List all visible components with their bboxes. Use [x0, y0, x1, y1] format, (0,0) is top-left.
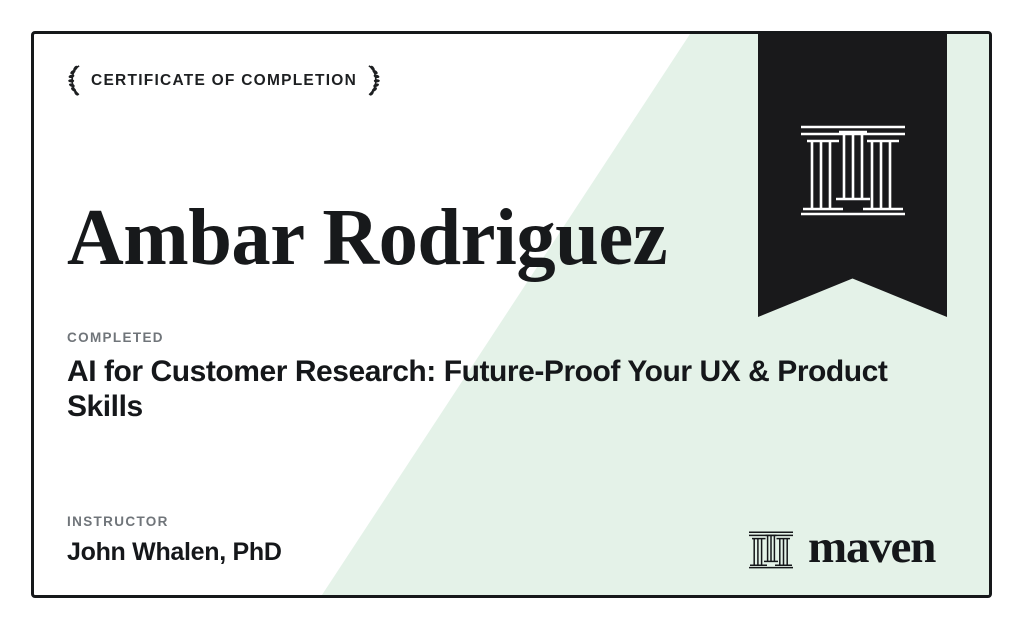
certificate-header: CERTIFICATE OF COMPLETION	[67, 64, 381, 98]
completed-label: COMPLETED	[67, 330, 947, 345]
columned-building-emblem-icon	[799, 110, 907, 218]
instructor-label: INSTRUCTOR	[67, 514, 282, 529]
maven-brand-lockup: maven	[748, 524, 935, 571]
recipient-name: Ambar Rodriguez	[67, 197, 667, 278]
award-banner-ribbon	[758, 32, 947, 317]
columned-building-icon	[748, 527, 794, 569]
course-title: AI for Customer Research: Future-Proof Y…	[67, 354, 947, 424]
instructor-block: INSTRUCTOR John Whalen, PhD	[67, 514, 282, 567]
laurel-branch-right-icon	[364, 64, 381, 98]
maven-wordmark: maven	[808, 524, 935, 571]
certificate-card: CERTIFICATE OF COMPLETION Ambar Rodrigue…	[31, 31, 992, 598]
instructor-name: John Whalen, PhD	[67, 538, 282, 567]
completed-course-block: COMPLETED AI for Customer Research: Futu…	[67, 330, 947, 424]
certificate-eyebrow: CERTIFICATE OF COMPLETION	[91, 72, 357, 90]
laurel-branch-left-icon	[67, 64, 84, 98]
